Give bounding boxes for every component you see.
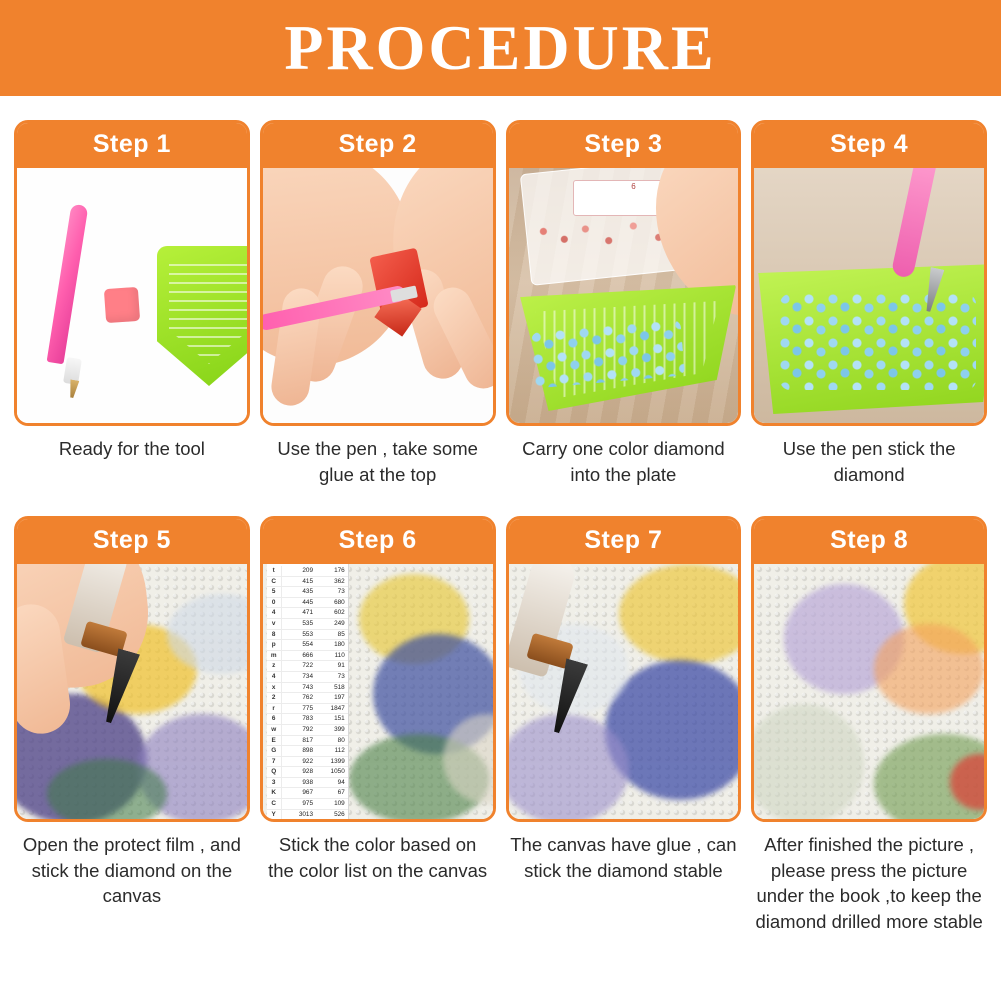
step-header-6: Step 6	[263, 519, 493, 564]
step-image-4	[754, 168, 984, 423]
legend-quantity: 151	[317, 714, 348, 724]
legend-quantity: 180	[317, 640, 348, 650]
legend-color-code: 535	[282, 619, 317, 629]
legend-symbol: w	[267, 725, 282, 735]
page-header-banner: PROCEDURE	[0, 0, 1001, 96]
legend-row: x743518	[267, 683, 348, 694]
legend-color-code: 435	[282, 587, 317, 597]
step-caption-3: Carry one color diamond into the plate	[506, 436, 742, 510]
step-caption-4: Use the pen stick the diamond	[751, 436, 987, 510]
legend-quantity: 94	[317, 778, 348, 788]
legend-row: E81780	[267, 736, 348, 747]
legend-quantity: 249	[317, 619, 348, 629]
step-card-8: Step 8	[751, 516, 987, 822]
legend-symbol: 4	[267, 608, 282, 618]
legend-row: C415362	[267, 577, 348, 588]
legend-symbol: p	[267, 640, 282, 650]
legend-symbol: 4	[267, 672, 282, 682]
legend-row: 4471602	[267, 608, 348, 619]
step-cell-3: Step 3 6 Carry one color diamond into th…	[506, 120, 742, 510]
legend-symbol: 3	[267, 778, 282, 788]
legend-symbol: 2	[267, 693, 282, 703]
legend-quantity: 110	[317, 651, 348, 661]
step-caption-6: Stick the color based on the color list …	[260, 832, 496, 906]
legend-symbol: Q	[267, 767, 282, 777]
step-cell-6: Step 6 t209176C4153625435730445680447160…	[260, 516, 496, 934]
legend-quantity: 176	[317, 566, 348, 576]
legend-quantity: 680	[317, 598, 348, 608]
legend-symbol: 5	[267, 587, 282, 597]
step-card-4: Step 4	[751, 120, 987, 426]
step-caption-7: The canvas have glue , can stick the dia…	[506, 832, 742, 906]
legend-quantity: 362	[317, 577, 348, 587]
legend-row: Y3013526	[267, 810, 348, 819]
step-card-5: Step 5	[14, 516, 250, 822]
legend-symbol: C	[267, 577, 282, 587]
step-image-1	[17, 168, 247, 423]
legend-quantity: 1399	[317, 757, 348, 767]
legend-row: v535249	[267, 619, 348, 630]
legend-quantity: 1847	[317, 704, 348, 714]
legend-color-code: 928	[282, 767, 317, 777]
step-card-1: Step 1	[14, 120, 250, 426]
legend-row: p554180	[267, 640, 348, 651]
step-card-7: Step 7	[506, 516, 742, 822]
step-cell-8: Step 8 After finished the picture , plea…	[751, 516, 987, 934]
step-caption-1: Ready for the tool	[55, 436, 209, 510]
legend-color-code: 775	[282, 704, 317, 714]
step-image-7	[509, 564, 739, 819]
legend-color-code: 783	[282, 714, 317, 724]
legend-row: 79221399	[267, 757, 348, 768]
legend-row: Q9281050	[267, 767, 348, 778]
legend-row: m666110	[267, 651, 348, 662]
step-image-2	[263, 168, 493, 423]
legend-color-code: 817	[282, 736, 317, 746]
legend-symbol: Y	[267, 810, 282, 819]
step-card-3: Step 3 6	[506, 120, 742, 426]
step-image-5	[17, 564, 247, 819]
legend-row: K96767	[267, 788, 348, 799]
legend-symbol: C	[267, 799, 282, 809]
legend-quantity: 67	[317, 788, 348, 798]
step-caption-5: Open the protect film , and stick the di…	[14, 832, 250, 909]
legend-row: 855385	[267, 630, 348, 641]
legend-row: 2762197	[267, 693, 348, 704]
legend-symbol: x	[267, 683, 282, 693]
step-card-6: Step 6 t209176C4153625435730445680447160…	[260, 516, 496, 822]
legend-color-code: 415	[282, 577, 317, 587]
step-image-6: t209176C41536254357304456804471602v53524…	[263, 564, 493, 819]
legend-color-code: 792	[282, 725, 317, 735]
step-header-3: Step 3	[509, 123, 739, 168]
legend-color-code: 975	[282, 799, 317, 809]
step-cell-4: Step 4 Use the pen stick the diamond	[751, 120, 987, 510]
legend-color-code: 3013	[282, 810, 317, 819]
step-card-2: Step 2	[260, 120, 496, 426]
legend-symbol: 8	[267, 630, 282, 640]
legend-quantity: 109	[317, 799, 348, 809]
legend-symbol: v	[267, 619, 282, 629]
legend-symbol: t	[267, 566, 282, 576]
legend-color-code: 554	[282, 640, 317, 650]
legend-quantity: 85	[317, 630, 348, 640]
legend-row: G898112	[267, 746, 348, 757]
step-caption-2: Use the pen , take some glue at the top	[260, 436, 496, 510]
step-cell-7: Step 7 The canvas have glue , can stick …	[506, 516, 742, 934]
legend-row: 393894	[267, 778, 348, 789]
legend-row: w792399	[267, 725, 348, 736]
step-header-2: Step 2	[263, 123, 493, 168]
step-header-1: Step 1	[17, 123, 247, 168]
legend-quantity: 518	[317, 683, 348, 693]
step-image-3: 6	[509, 168, 739, 423]
legend-row: t209176	[267, 566, 348, 577]
legend-symbol: 7	[267, 757, 282, 767]
legend-quantity: 399	[317, 725, 348, 735]
legend-symbol: K	[267, 788, 282, 798]
legend-color-code: 898	[282, 746, 317, 756]
legend-color-code: 734	[282, 672, 317, 682]
step-cell-2: Step 2 Use the pen , take some glue at t…	[260, 120, 496, 510]
legend-quantity: 526	[317, 810, 348, 819]
step-caption-8: After finished the picture , please pres…	[751, 832, 987, 934]
step-cell-1: Step 1 Ready for the tool	[14, 120, 250, 510]
legend-row: 543573	[267, 587, 348, 598]
legend-quantity: 602	[317, 608, 348, 618]
legend-quantity: 1050	[317, 767, 348, 777]
legend-color-code: 553	[282, 630, 317, 640]
legend-quantity: 73	[317, 672, 348, 682]
legend-color-code: 722	[282, 661, 317, 671]
legend-quantity: 91	[317, 661, 348, 671]
legend-quantity: 112	[317, 746, 348, 756]
legend-color-code: 762	[282, 693, 317, 703]
step-cell-5: Step 5 Open the protect film , and stick…	[14, 516, 250, 934]
legend-color-code: 967	[282, 788, 317, 798]
legend-row: 0445680	[267, 598, 348, 609]
legend-row: 6783151	[267, 714, 348, 725]
legend-symbol: 0	[267, 598, 282, 608]
step-header-4: Step 4	[754, 123, 984, 168]
legend-quantity: 80	[317, 736, 348, 746]
legend-color-code: 666	[282, 651, 317, 661]
legend-symbol: E	[267, 736, 282, 746]
legend-symbol: z	[267, 661, 282, 671]
legend-symbol: m	[267, 651, 282, 661]
step-header-5: Step 5	[17, 519, 247, 564]
legend-color-code: 471	[282, 608, 317, 618]
legend-symbol: r	[267, 704, 282, 714]
legend-color-code: 938	[282, 778, 317, 788]
legend-color-code: 922	[282, 757, 317, 767]
legend-color-code: 445	[282, 598, 317, 608]
color-list-legend: t209176C41536254357304456804471602v53524…	[267, 564, 349, 819]
legend-row: C975109	[267, 799, 348, 810]
legend-color-code: 743	[282, 683, 317, 693]
wax-square-shape	[104, 287, 140, 323]
steps-grid: Step 1 Ready for the tool Step 2	[0, 96, 1001, 934]
step-header-7: Step 7	[509, 519, 739, 564]
legend-quantity: 197	[317, 693, 348, 703]
legend-row: r7751847	[267, 704, 348, 715]
blue-diamonds	[780, 294, 976, 390]
legend-row: 473473	[267, 672, 348, 683]
page-title: PROCEDURE	[284, 16, 716, 80]
legend-quantity: 73	[317, 587, 348, 597]
step-image-8	[754, 564, 984, 819]
legend-symbol: G	[267, 746, 282, 756]
legend-symbol: 6	[267, 714, 282, 724]
step-header-8: Step 8	[754, 519, 984, 564]
legend-row: z72291	[267, 661, 348, 672]
legend-color-code: 209	[282, 566, 317, 576]
